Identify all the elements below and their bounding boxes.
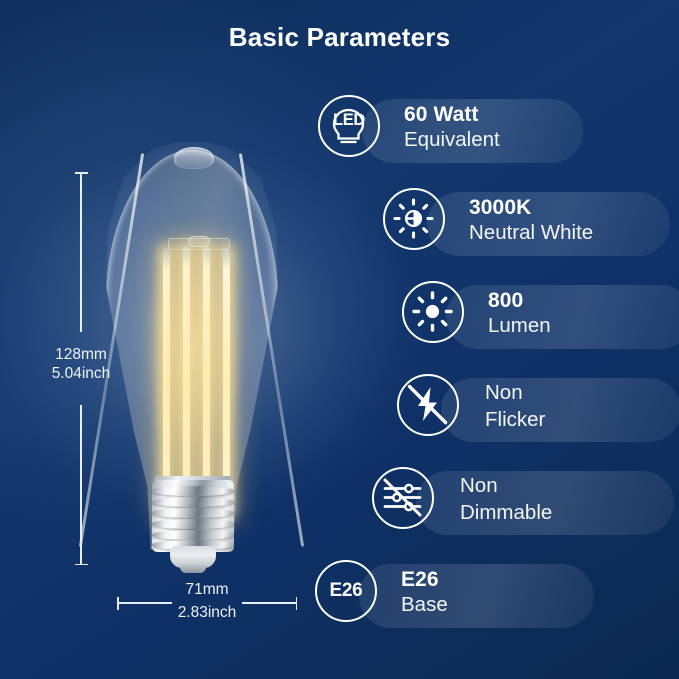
e26-label: E26 [317,562,375,620]
base-thread [152,486,234,496]
spec-secondary: Dimmable [460,499,552,526]
spec-pill [446,285,679,349]
base-thread [152,530,234,540]
spec-primary: Non [460,472,552,499]
spec-secondary: Neutral White [469,220,593,246]
spec-row-flicker[interactable]: Non Flicker [397,374,679,446]
dimension-end-cap [296,597,298,610]
spec-primary: 800 [488,288,551,313]
spec-row-wattage[interactable]: LED 60 Watt Equivalent [318,95,679,167]
led-label: LED [320,95,378,149]
page-title: Basic Parameters [0,22,679,53]
spec-secondary: Base [401,592,448,618]
spec-secondary: Flicker [485,406,545,433]
width-inch: 2.83inch [137,601,277,624]
spec-primary: 60 Watt [404,102,500,127]
no-dimmer-slider-icon [372,467,434,529]
spec-row-color-temp[interactable]: 3000K Neutral White [383,188,679,260]
base-contact [180,564,206,573]
spec-primary: 3000K [469,195,593,220]
height-inch: 5.04inch [52,365,111,382]
spec-text: Non Dimmable [460,472,552,526]
led-bulb-icon: LED [318,95,380,157]
width-dimension-label: 71mm 2.83inch [137,578,277,624]
spec-text: 60 Watt Equivalent [404,102,500,153]
spec-primary: Non [485,379,545,406]
dimension-line-segment [80,405,82,565]
spec-row-dimmable[interactable]: Non Dimmable [372,467,679,539]
dimension-end-cap [75,172,88,174]
dimension-end-cap [117,597,119,610]
dimension-line-segment [80,172,82,332]
sun-brightness-icon [402,281,464,343]
bulb-dome-tip [174,147,214,169]
e26-screw-base [152,480,234,552]
spec-text: 800 Lumen [488,288,551,339]
spec-text: 3000K Neutral White [469,195,593,246]
dimension-end-cap [75,564,88,566]
spec-primary: E26 [401,567,448,592]
height-mm: 128mm [55,346,107,363]
spec-text: Non Flicker [485,379,545,433]
spec-pill [441,378,679,442]
base-thread [152,508,234,518]
product-infographic: Basic Parameters [0,0,679,679]
no-flicker-bolt-icon [397,374,459,436]
width-mm: 71mm [185,581,228,598]
base-thread [152,519,234,529]
spec-pill [359,564,594,628]
height-dimension-label: 128mm 5.04inch [20,345,142,383]
half-brightness-icon [383,188,445,250]
spec-secondary: Lumen [488,313,551,339]
e26-base-icon: E26 [315,560,377,622]
spec-row-lumens[interactable]: 800 Lumen [402,281,679,353]
spec-text: E26 Base [401,567,448,618]
spec-row-base[interactable]: E26 E26 Base [315,560,679,632]
base-thread [152,497,234,507]
spec-secondary: Equivalent [404,127,500,153]
